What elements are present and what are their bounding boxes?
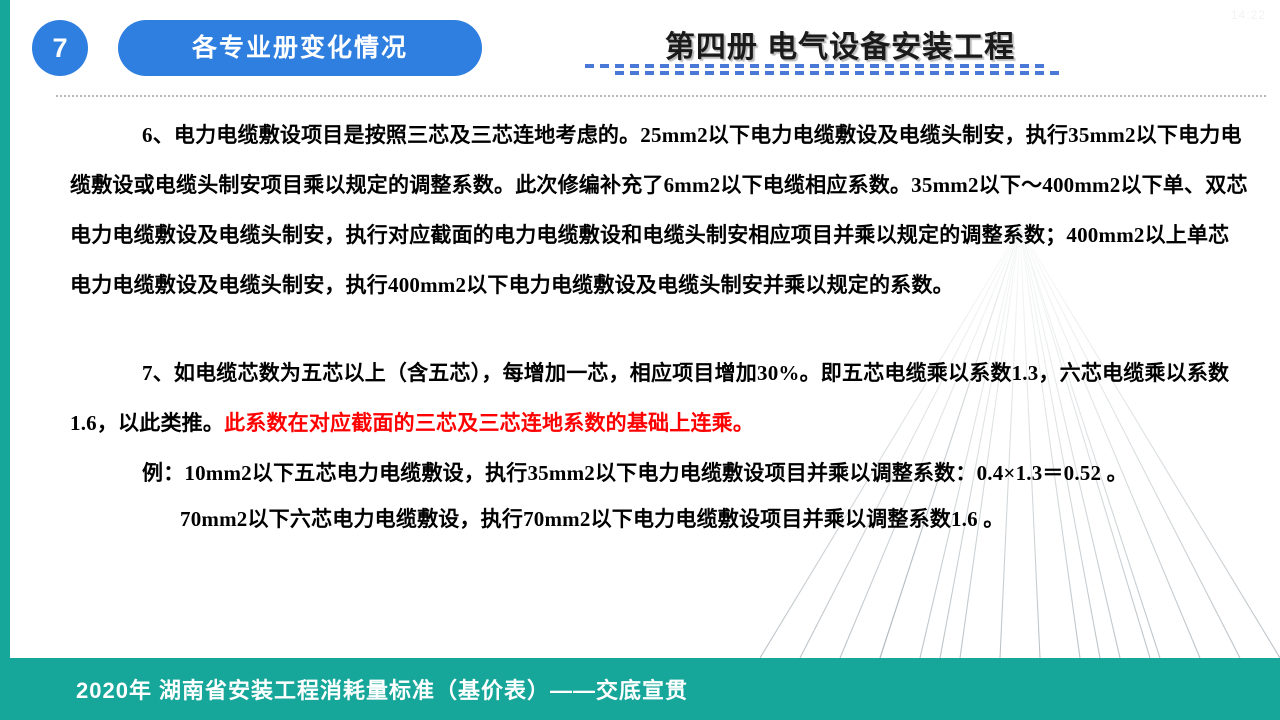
- title-dashed-underline: [560, 64, 1120, 82]
- section-title-pill: 各专业册变化情况: [118, 20, 482, 76]
- example-line-1: 例：10mm2以下五芯电力电缆敷设，执行35mm2以下电力电缆敷设项目并乘以调整…: [70, 448, 1250, 498]
- example-line-2: 70mm2以下六芯电力电缆敷设，执行70mm2以下电力电缆敷设项目并乘以调整系数…: [70, 494, 1250, 544]
- presentation-slide: 7 各专业册变化情况 第四册 电气设备安装工程 14:22 6、电力电缆敷设项目…: [0, 0, 1280, 720]
- slide-body: 6、电力电缆敷设项目是按照三芯及三芯连地考虑的。25mm2以下电力电缆敷设及电缆…: [0, 100, 1280, 660]
- dashed-line-top: [585, 64, 1050, 68]
- paragraph-7: 7、如电缆芯数为五芯以上（含五芯），每增加一芯，相应项目增加30%。即五芯电缆乘…: [70, 348, 1250, 448]
- paragraph-7-highlight: 此系数在对应截面的三芯及三芯连地系数的基础上连乘。: [224, 411, 754, 435]
- clock-timestamp: 14:22: [1231, 8, 1266, 22]
- slide-header: 7 各专业册变化情况 第四册 电气设备安装工程 14:22: [0, 0, 1280, 100]
- footer-label: 2020年 湖南省安装工程消耗量标准（基价表）——交底宣贯: [76, 673, 688, 705]
- page-title: 第四册 电气设备安装工程: [560, 22, 1120, 66]
- slide-footer: 2020年 湖南省安装工程消耗量标准（基价表）——交底宣贯: [0, 658, 1280, 720]
- paragraph-6: 6、电力电缆敷设项目是按照三芯及三芯连地考虑的。25mm2以下电力电缆敷设及电缆…: [70, 110, 1250, 310]
- header-divider: [56, 95, 1266, 97]
- dashed-line-bottom: [615, 71, 1065, 75]
- section-number-badge: 7: [32, 20, 88, 76]
- left-accent-rail: [0, 0, 10, 720]
